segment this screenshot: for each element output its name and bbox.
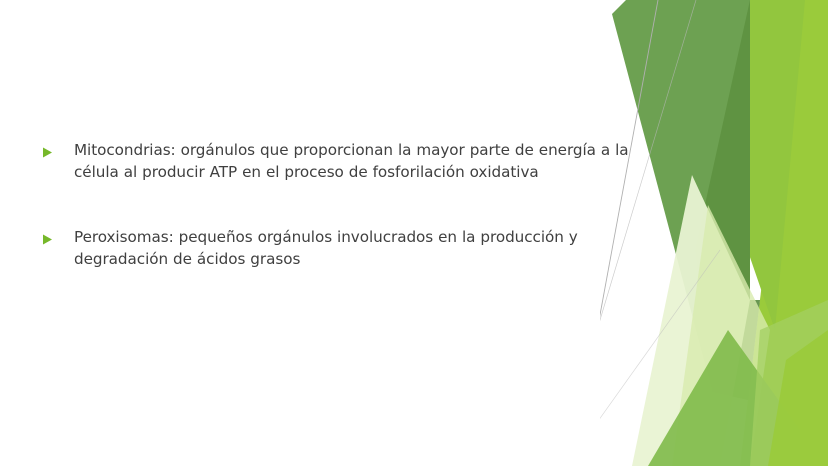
list-item-text: Mitocondrias: orgánulos que proporcionan… bbox=[74, 140, 642, 183]
decor-shape-light-slab bbox=[648, 330, 800, 466]
decor-shape-lime-bottom bbox=[768, 330, 828, 466]
decor-shape-pale-sweep-2 bbox=[672, 205, 770, 466]
list-item-text: Peroxisomas: pequeños orgánulos involucr… bbox=[74, 227, 642, 270]
decor-hairline-lower bbox=[600, 250, 720, 466]
decor-shape-light-bottom bbox=[750, 300, 828, 466]
decor-shape-lime-right bbox=[740, 0, 828, 466]
body-placeholder: Mitocondrias: orgánulos que proporcionan… bbox=[42, 140, 642, 270]
triangle-bullet-icon bbox=[42, 140, 74, 158]
slide-canvas: Mitocondrias: orgánulos que proporcionan… bbox=[0, 0, 828, 466]
decor-shape-pale-backdrop bbox=[750, 0, 828, 466]
decor-shape-dark-notch bbox=[712, 300, 760, 400]
list-item[interactable]: Mitocondrias: orgánulos que proporcionan… bbox=[42, 140, 642, 183]
decor-shape-pale-sweep bbox=[632, 175, 750, 466]
triangle-bullet-icon bbox=[42, 227, 74, 245]
decor-shape-bright-wedge bbox=[720, 0, 805, 330]
list-item[interactable]: Peroxisomas: pequeños orgánulos involucr… bbox=[42, 227, 642, 270]
decor-shape-dark-overlay bbox=[695, 0, 750, 390]
